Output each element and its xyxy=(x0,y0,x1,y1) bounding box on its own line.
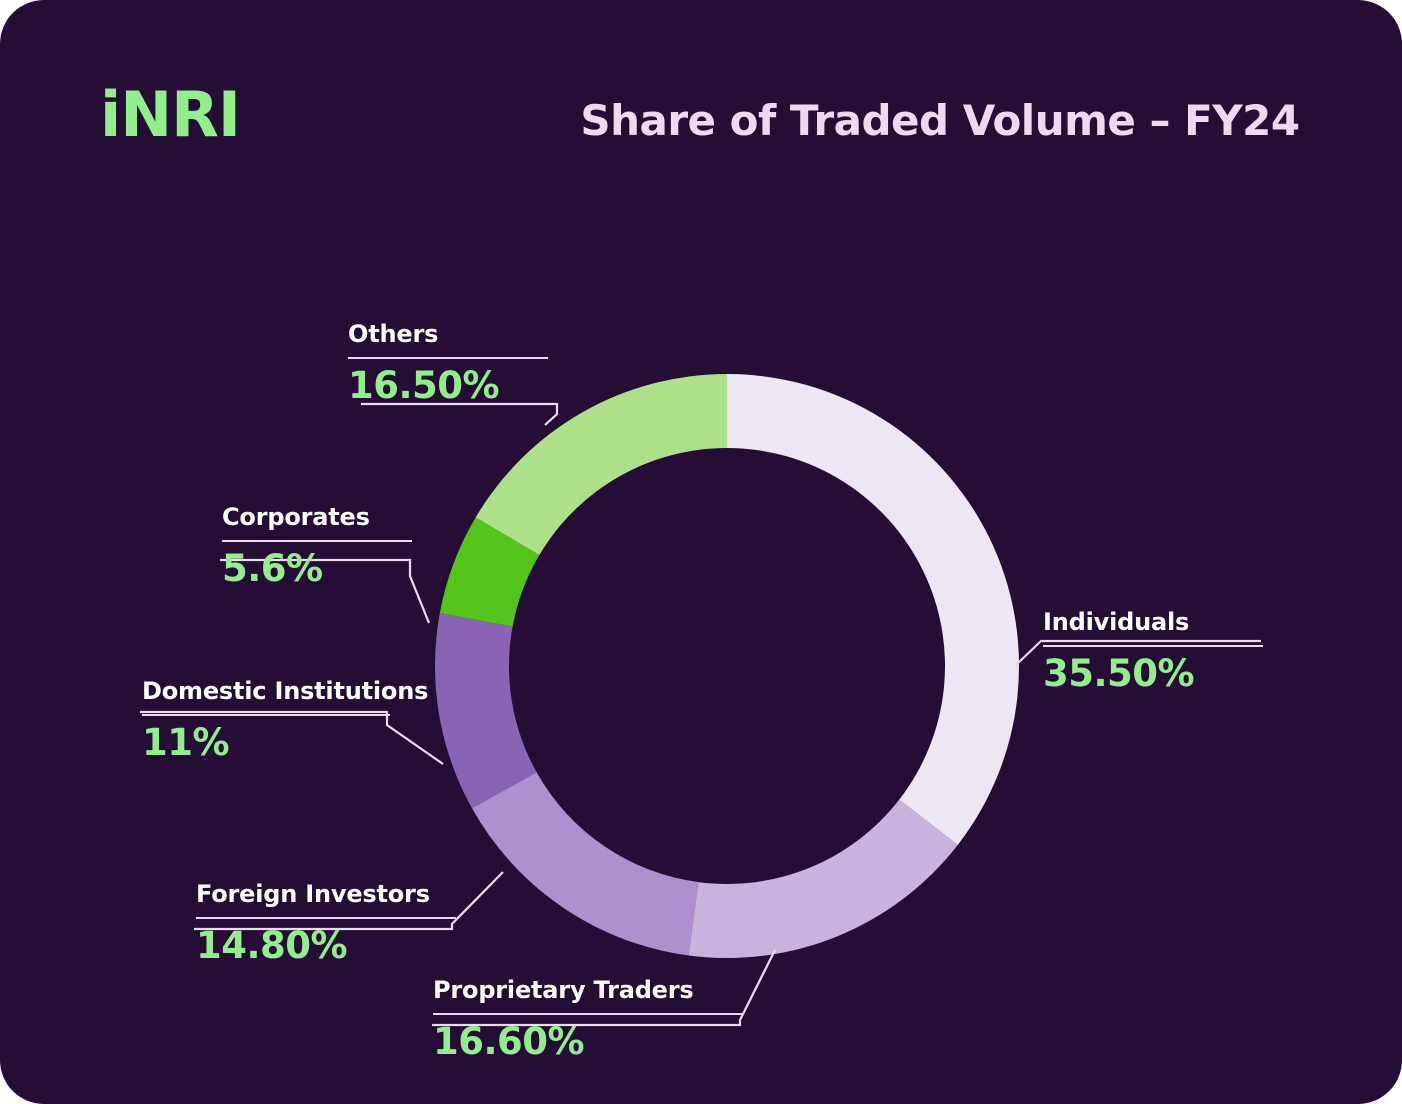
chart-card: iNRI Share of Traded Volume – FY24 Other… xyxy=(0,0,1402,1104)
callout-individuals: Individuals 35.50% xyxy=(1043,608,1263,696)
callout-foreign-investors: Foreign Investors 14.80% xyxy=(196,880,456,968)
callout-corporates-rule xyxy=(222,540,412,542)
callout-domestic-institutions-value: 11% xyxy=(142,722,390,765)
donut-slice-proprietary-traders[interactable] xyxy=(689,800,958,958)
callout-domestic-institutions-rule xyxy=(142,714,390,716)
callout-individuals-label: Individuals xyxy=(1043,608,1263,636)
callout-individuals-rule xyxy=(1043,645,1263,647)
callout-domestic-institutions: Domestic Institutions 11% xyxy=(142,677,390,765)
callout-proprietary-traders-value: 16.60% xyxy=(433,1021,743,1064)
callout-individuals-value: 35.50% xyxy=(1043,653,1263,696)
callout-others-value: 16.50% xyxy=(348,365,548,408)
callout-others: Others 16.50% xyxy=(348,320,548,408)
donut-slice-foreign-investors[interactable] xyxy=(472,772,698,955)
callout-others-rule xyxy=(348,357,548,359)
callout-corporates-label: Corporates xyxy=(222,503,412,531)
callout-foreign-investors-label: Foreign Investors xyxy=(196,880,456,908)
donut-slice-individuals[interactable] xyxy=(727,374,1019,845)
callout-others-label: Others xyxy=(348,320,548,348)
callout-corporates: Corporates 5.6% xyxy=(222,503,412,591)
callout-corporates-value: 5.6% xyxy=(222,548,412,591)
callout-foreign-investors-value: 14.80% xyxy=(196,925,456,968)
callout-domestic-institutions-label: Domestic Institutions xyxy=(142,677,390,705)
callout-proprietary-traders: Proprietary Traders 16.60% xyxy=(433,976,743,1064)
donut-slices xyxy=(435,374,1019,958)
callout-foreign-investors-rule xyxy=(196,917,456,919)
callout-proprietary-traders-rule xyxy=(433,1013,743,1015)
donut-slice-domestic-institutions[interactable] xyxy=(435,613,537,808)
callout-proprietary-traders-label: Proprietary Traders xyxy=(433,976,743,1004)
